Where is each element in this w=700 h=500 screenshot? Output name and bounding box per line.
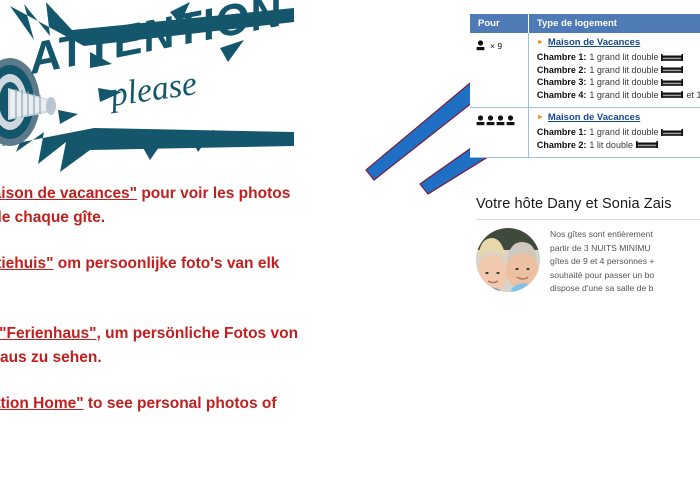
notice-rest-fr: pour voir les photos (137, 185, 290, 202)
notice-paragraph-nl: "Vakantiehuis" om persoonlijke foto's va… (0, 252, 464, 300)
notice-link-nl[interactable]: "Vakantiehuis" (0, 255, 53, 272)
person-icon (476, 115, 485, 126)
host-text-line: dispose d'une sa salle de b (550, 282, 654, 296)
host-text-line: Nos gîtes sont entièrement (550, 228, 654, 242)
divider (476, 219, 700, 220)
lodging-table: Pour Type de logement × 9 (470, 14, 700, 158)
lodging-link-row[interactable]: ► Maison de Vacances (537, 112, 700, 123)
room-desc: 1 lit double (589, 139, 633, 152)
person-icon (476, 40, 485, 51)
notice-link-de[interactable]: Sie auf "Ferienhaus", (0, 325, 101, 342)
double-bed-icon (661, 53, 683, 62)
room-item: Chambre 4: 1 grand lit double et 1 (537, 89, 700, 102)
person-icon (506, 115, 515, 126)
table-header-row: Pour Type de logement (470, 14, 700, 33)
lodging-cell: ► Maison de Vacances Chambre 1: 1 grand … (528, 33, 700, 108)
host-couple-photo (476, 228, 540, 292)
room-item: Chambre 2: 1 lit double (537, 139, 700, 152)
notice-line2-de: Ferienhaus zu sehen. (0, 349, 102, 366)
occupancy-cell (470, 108, 528, 158)
room-desc: 1 grand lit double (589, 64, 658, 77)
notice-link-fr[interactable]: sur "Maison de vacances" (0, 185, 137, 202)
double-bed-icon (636, 140, 658, 149)
banner-please-text: please (106, 65, 199, 114)
notice-rest-de: um persönliche Fotos von (101, 325, 298, 342)
host-text-line: partir de 3 NUITS MINIMU (550, 242, 654, 256)
room-name: Chambre 3: (537, 76, 587, 89)
table-row: × 9 ► Maison de Vacances Chambre 1: 1 gr… (470, 33, 700, 108)
person-icon (496, 115, 505, 126)
lodging-cell: ► Maison de Vacances Chambre 1: 1 grand … (528, 108, 700, 158)
multilingual-notice: sur "Maison de vacances" pour voir les p… (0, 182, 464, 440)
notice-paragraph-fr: sur "Maison de vacances" pour voir les p… (0, 182, 464, 230)
room-item: Chambre 2: 1 grand lit double (537, 64, 700, 77)
double-bed-icon (661, 90, 683, 99)
room-name: Chambre 1: (537, 126, 587, 139)
occupancy-cell: × 9 (470, 33, 528, 108)
room-name: Chambre 2: (537, 64, 587, 77)
occupancy-count: × 9 (490, 41, 502, 51)
lodging-link-label[interactable]: Maison de Vacances (548, 37, 640, 48)
notice-link-en[interactable]: n "Vacation Home" (0, 395, 84, 412)
room-item: Chambre 1: 1 grand lit double (537, 51, 700, 64)
table-row: ► Maison de Vacances Chambre 1: 1 grand … (470, 108, 700, 158)
person-icon-group (476, 40, 485, 51)
column-header-pour: Pour (470, 14, 528, 33)
notice-paragraph-de: Sie auf "Ferienhaus", um persönliche Fot… (0, 322, 464, 370)
triangle-right-icon: ► (537, 114, 544, 121)
host-title: Votre hôte Dany et Sonia Zais (476, 196, 700, 212)
room-name: Chambre 4: (537, 89, 587, 102)
host-text-line: gîtes de 9 et 4 personnes + (550, 255, 654, 269)
host-description: Nos gîtes sont entièrement partir de 3 N… (550, 228, 654, 296)
room-name: Chambre 1: (537, 51, 587, 64)
person-icon-group (476, 115, 515, 126)
room-desc: 1 grand lit double (589, 89, 658, 102)
double-bed-icon (661, 65, 683, 74)
screenshot-canvas: ATTENTION please ATTENTION please sur "M… (0, 0, 700, 500)
triangle-right-icon: ► (537, 39, 544, 46)
double-bed-icon (661, 128, 683, 137)
lodging-link-label[interactable]: Maison de Vacances (548, 112, 640, 123)
room-name: Chambre 2: (537, 139, 587, 152)
host-text-line: souhaité pour passer un bo (550, 269, 654, 283)
attention-please-banner: ATTENTION please (0, 0, 294, 186)
notice-rest-en: to see personal photos of (84, 395, 277, 412)
notice-paragraph-en: n "Vacation Home" to see personal photos… (0, 392, 464, 440)
room-desc: 1 grand lit double (589, 76, 658, 89)
room-item: Chambre 1: 1 grand lit double (537, 126, 700, 139)
notice-rest-nl: om persoonlijke foto's van elk (53, 255, 279, 272)
column-header-type: Type de logement (528, 14, 700, 33)
person-icon (486, 115, 495, 126)
host-section: Votre hôte Dany et Sonia Zais (476, 196, 700, 296)
lodging-panel: Pour Type de logement × 9 (470, 14, 700, 158)
room-suffix: et 1 (686, 89, 700, 102)
room-desc: 1 grand lit double (589, 126, 658, 139)
notice-line2-fr: nelles de chaque gîte. (0, 209, 105, 226)
room-item: Chambre 3: 1 grand lit double (537, 76, 700, 89)
lodging-link-row[interactable]: ► Maison de Vacances (537, 37, 700, 48)
room-desc: 1 grand lit double (589, 51, 658, 64)
double-bed-icon (661, 78, 683, 87)
